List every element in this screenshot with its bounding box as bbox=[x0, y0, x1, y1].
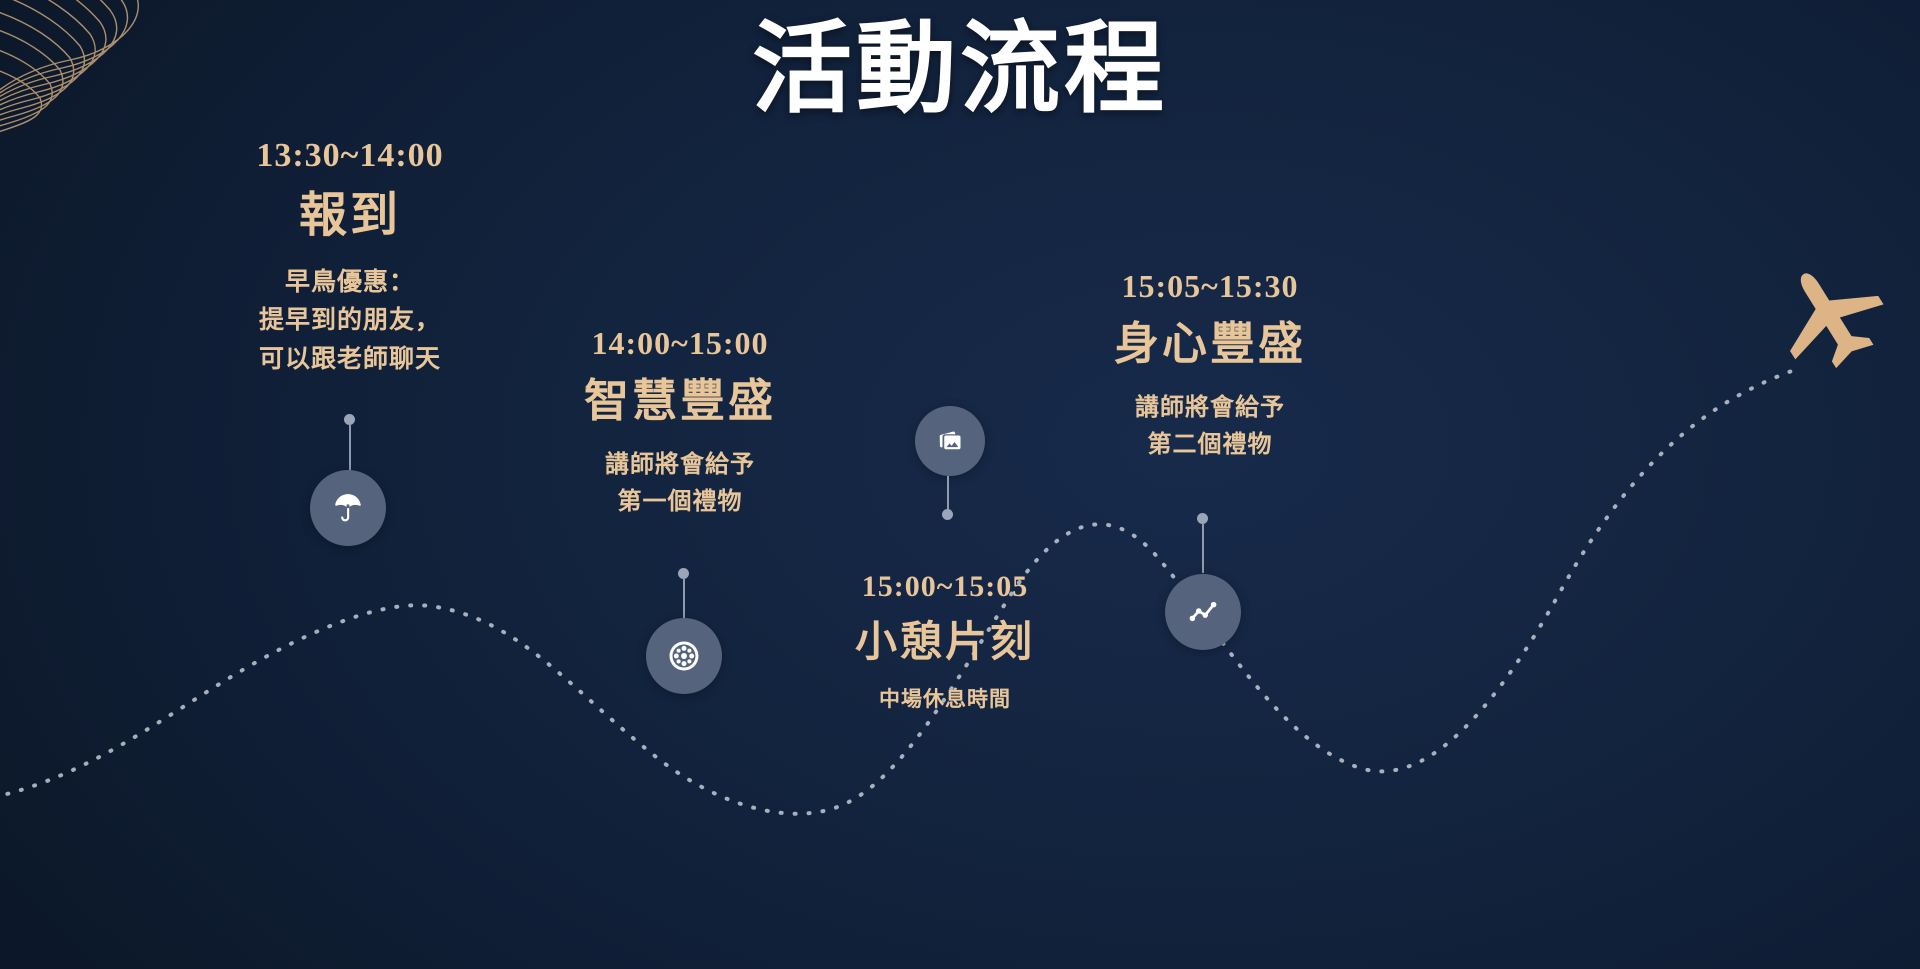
line-chart-icon bbox=[1186, 595, 1220, 629]
slide-canvas: 活動流程 13:30~14:00 報到 早鳥優惠： 提早到的朋友， 可以跟老師聊… bbox=[0, 0, 1920, 969]
airplane-icon bbox=[1770, 258, 1890, 368]
milestone-wisdom: 14:00~15:00 智慧豐盛 講師將會給予 第一個禮物 bbox=[530, 325, 830, 520]
milestone-description: 講師將會給予 第一個禮物 bbox=[530, 446, 830, 520]
description-line: 講師將會給予 bbox=[1060, 389, 1360, 426]
milestone-heading: 智慧豐盛 bbox=[530, 374, 830, 428]
stem-line bbox=[683, 578, 685, 622]
umbrella-icon bbox=[331, 491, 365, 525]
description-line: 中場休息時間 bbox=[800, 683, 1090, 716]
milestone-heading: 身心豐盛 bbox=[1060, 317, 1360, 371]
node-break[interactable] bbox=[915, 406, 985, 476]
film-reel-icon bbox=[667, 639, 701, 673]
milestone-break: 15:00~15:05 小憩片刻 中場休息時間 bbox=[800, 570, 1090, 715]
milestone-heading: 小憩片刻 bbox=[800, 617, 1090, 667]
stem-dot bbox=[942, 509, 953, 520]
milestone-time: 13:30~14:00 bbox=[195, 136, 505, 175]
page-title: 活動流程 bbox=[0, 14, 1920, 124]
stem-line bbox=[349, 424, 351, 476]
description-line: 可以跟老師聊天 bbox=[195, 340, 505, 379]
milestone-description: 早鳥優惠： 提早到的朋友， 可以跟老師聊天 bbox=[195, 263, 505, 379]
milestone-heading: 報到 bbox=[195, 187, 505, 245]
milestone-description: 講師將會給予 第二個禮物 bbox=[1060, 389, 1360, 463]
milestone-checkin: 13:30~14:00 報到 早鳥優惠： 提早到的朋友， 可以跟老師聊天 bbox=[195, 136, 505, 379]
milestone-body-mind: 15:05~15:30 身心豐盛 講師將會給予 第二個禮物 bbox=[1060, 268, 1360, 463]
node-checkin[interactable] bbox=[310, 470, 386, 546]
milestone-time: 14:00~15:00 bbox=[530, 325, 830, 362]
description-line: 提早到的朋友， bbox=[195, 301, 505, 340]
milestone-description: 中場休息時間 bbox=[800, 683, 1090, 716]
description-line: 第二個禮物 bbox=[1060, 426, 1360, 463]
stem-line bbox=[947, 476, 949, 512]
description-line: 早鳥優惠： bbox=[195, 263, 505, 302]
stem-line bbox=[1202, 523, 1204, 573]
description-line: 第一個禮物 bbox=[530, 483, 830, 520]
photos-icon bbox=[935, 426, 965, 456]
node-wisdom[interactable] bbox=[646, 618, 722, 694]
node-body-mind[interactable] bbox=[1165, 574, 1241, 650]
milestone-time: 15:00~15:05 bbox=[800, 570, 1090, 605]
description-line: 講師將會給予 bbox=[530, 446, 830, 483]
milestone-time: 15:05~15:30 bbox=[1060, 268, 1360, 305]
